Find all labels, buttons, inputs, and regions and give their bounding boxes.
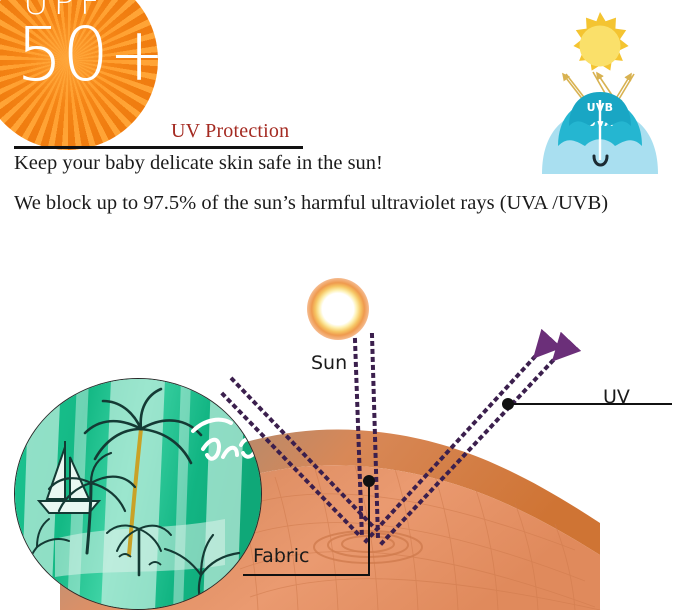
uv-label: UV <box>603 386 630 408</box>
fabric-photo-circle <box>14 378 262 610</box>
upf-badge: UPF 50+ <box>0 0 158 150</box>
body-line-1: Keep your baby delicate skin safe in the… <box>14 152 383 175</box>
uv-umbrella-diagram: UVA UVB <box>530 4 670 180</box>
upf-value: 50+ <box>16 18 158 92</box>
fabric-label: Fabric <box>253 545 309 567</box>
sun-star-icon <box>573 12 628 71</box>
page-title: UV Protection <box>171 120 289 143</box>
sun-label: Sun <box>311 352 347 374</box>
title-divider <box>14 146 303 149</box>
uv-leader <box>502 398 672 410</box>
body-line-2: We block up to 97.5% of the sun’s harmfu… <box>14 192 608 215</box>
infographic-canvas: UPF 50+ UV Protection Keep your baby del… <box>0 0 679 610</box>
